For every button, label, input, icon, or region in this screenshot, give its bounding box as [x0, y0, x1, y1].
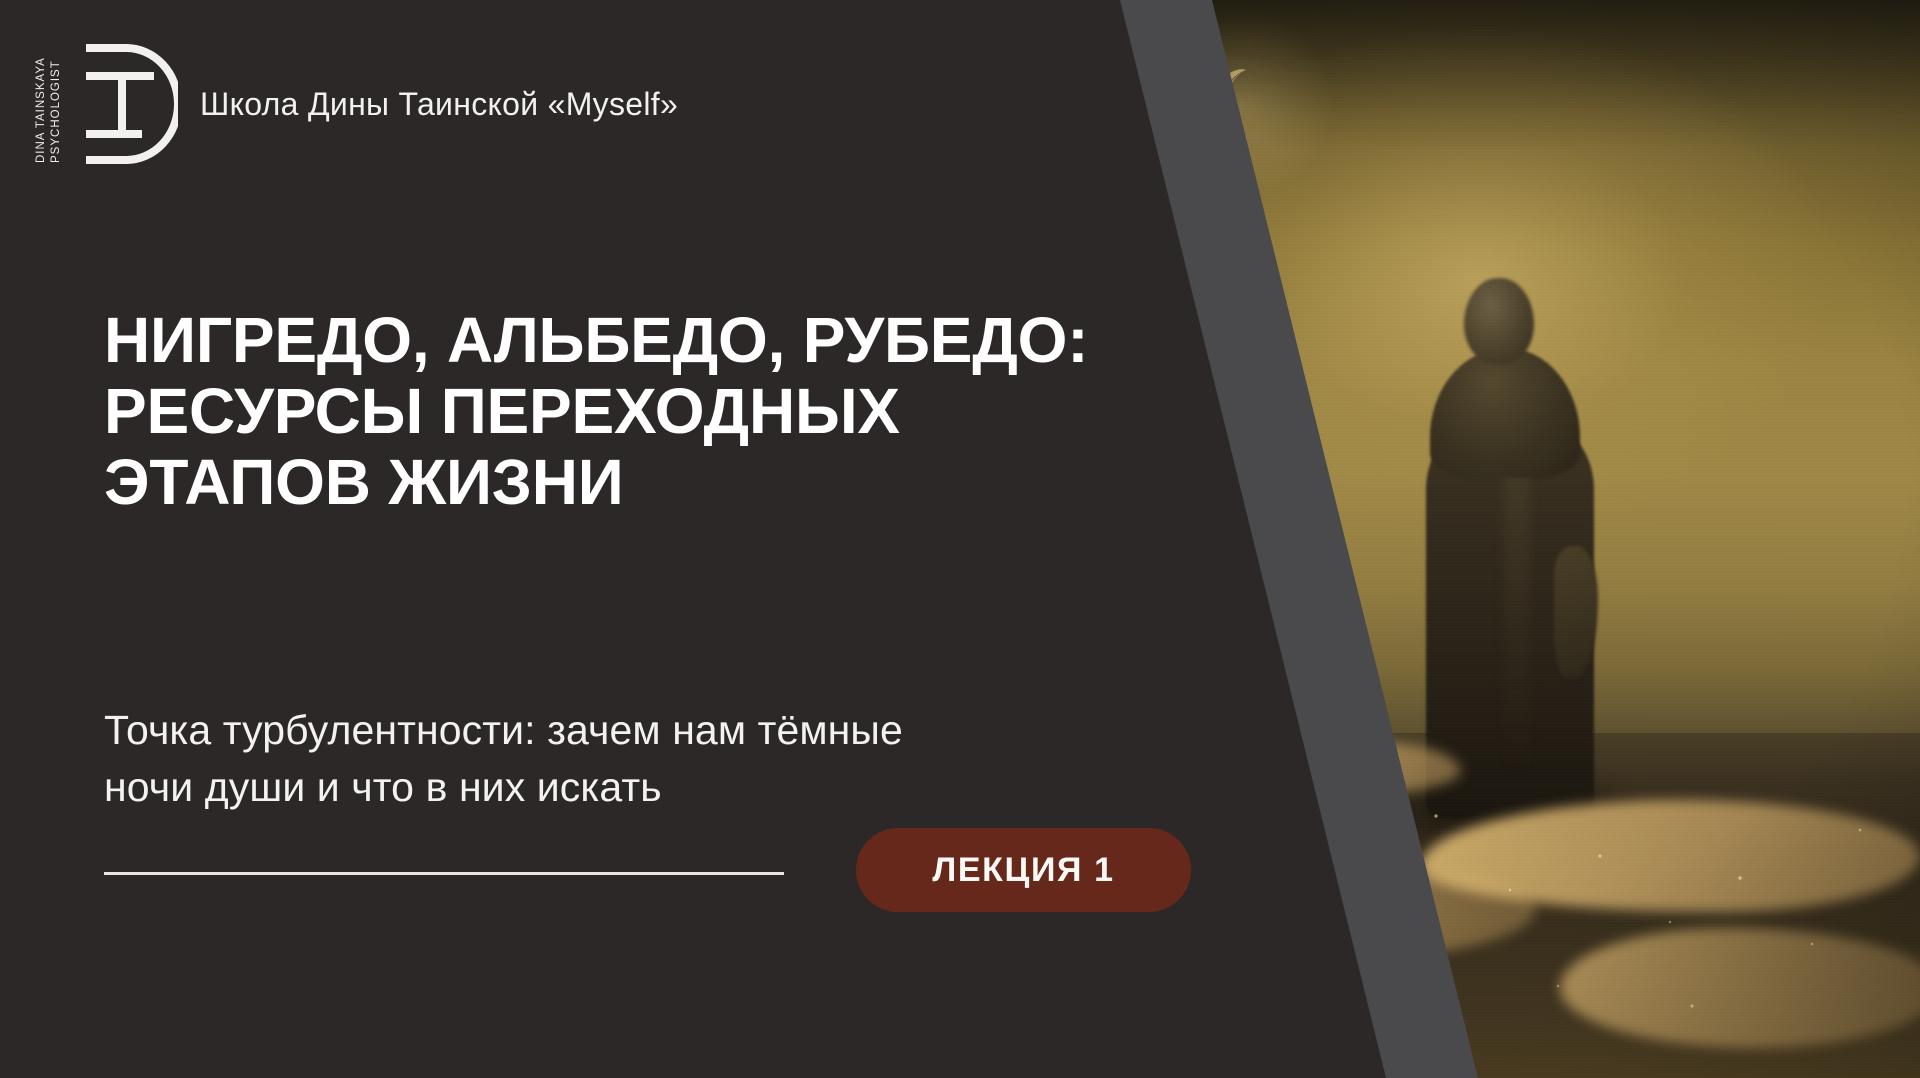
subtitle-line: ночи души и что в них искать: [104, 759, 1294, 816]
logo-name-text: DINA TAINSKAYA: [36, 45, 48, 163]
logo-role-text: PSYCHOLOGIST: [51, 45, 63, 163]
subtitle-line: Точка турбулентности: зачем нам тёмные: [104, 702, 1294, 759]
school-name: Школа Дины Таинской «Myself»: [200, 86, 678, 123]
lecture-number-badge: Лекция 1: [856, 828, 1191, 912]
title-line: ЭТАПОВ ЖИЗНИ: [104, 447, 1144, 518]
horizontal-rule: [104, 872, 784, 875]
presentation-slide: DINA TAINSKAYA PSYCHOLOGIST Школа Дины Т…: [0, 0, 1920, 1078]
title-line: РЕСУРСЫ ПЕРЕХОДНЫХ: [104, 376, 1144, 447]
title-line: НИГРЕДО, АЛЬБЕДО, РУБЕДО:: [104, 305, 1144, 376]
slide-subtitle: Точка турбулентности: зачем нам тёмные н…: [104, 702, 1294, 817]
logo-mark: DINA TAINSKAYA PSYCHOLOGIST: [30, 38, 178, 170]
brand-logo[interactable]: DINA TAINSKAYA PSYCHOLOGIST Школа Дины Т…: [30, 38, 678, 170]
monogram-dt-icon: [82, 42, 178, 171]
slide-title: НИГРЕДО, АЛЬБЕДО, РУБЕДО: РЕСУРСЫ ПЕРЕХО…: [104, 305, 1144, 518]
logo-vertical-text: DINA TAINSKAYA PSYCHOLOGIST: [36, 45, 62, 163]
